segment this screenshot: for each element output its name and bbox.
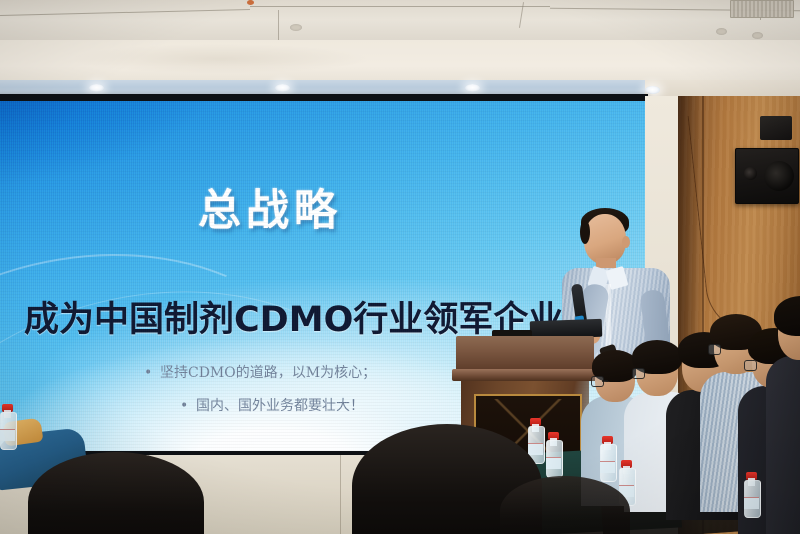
water-bottle xyxy=(0,404,15,450)
sprinkler-icon xyxy=(247,0,254,5)
speaker-tweeter xyxy=(744,167,757,180)
bullet-text: 国内、国外业务都要壮大！ xyxy=(196,398,364,414)
wall-stain xyxy=(70,44,370,74)
audience-suit xyxy=(766,356,800,534)
ceiling-fixture xyxy=(716,28,727,35)
speaker-cone xyxy=(764,161,794,191)
water-bottle xyxy=(744,472,759,518)
presenter-head xyxy=(584,214,626,264)
ceiling-seam xyxy=(278,10,279,44)
downlight-icon xyxy=(275,84,290,92)
bullet-text: 坚持CDMO的道路，以M为核心； xyxy=(160,365,376,381)
downlight-icon xyxy=(645,86,660,94)
ceiling-fixture xyxy=(752,32,763,39)
glasses-icon xyxy=(632,368,645,379)
bottle-label xyxy=(744,497,759,509)
air-vent-icon xyxy=(730,0,794,18)
glasses-bridge xyxy=(602,380,608,382)
bottle-label xyxy=(546,457,561,469)
ceiling-seam xyxy=(250,6,550,7)
bottle-label xyxy=(528,443,543,455)
bullet-marker-icon: • xyxy=(180,396,196,416)
podium-top xyxy=(456,336,594,370)
downlight-icon xyxy=(465,84,480,92)
presenter-hair-side xyxy=(580,220,590,244)
speaker-bracket xyxy=(760,116,792,140)
glasses-icon xyxy=(708,344,721,355)
speaker-icon xyxy=(735,148,799,204)
ceiling xyxy=(0,0,800,44)
podium-molding xyxy=(452,369,598,381)
cabinet-seam xyxy=(340,455,341,534)
bottle-label xyxy=(600,461,615,473)
presentation-photo: 总战略 成为中国制剂CDMO行业领军企业！ •坚持CDMO的道路，以M为核心； … xyxy=(0,0,800,534)
bottle-label xyxy=(0,429,15,441)
glasses-icon xyxy=(591,376,604,387)
glasses-icon xyxy=(744,360,757,371)
bullet-marker-icon: • xyxy=(144,363,160,383)
ceiling-seam xyxy=(0,9,250,16)
ceiling-fixture xyxy=(290,24,302,31)
downlight-icon xyxy=(89,84,104,92)
water-bottle xyxy=(546,432,561,478)
presenter-ear xyxy=(622,236,630,248)
water-bottle xyxy=(600,436,615,482)
slide-title: 总战略 xyxy=(0,176,540,238)
